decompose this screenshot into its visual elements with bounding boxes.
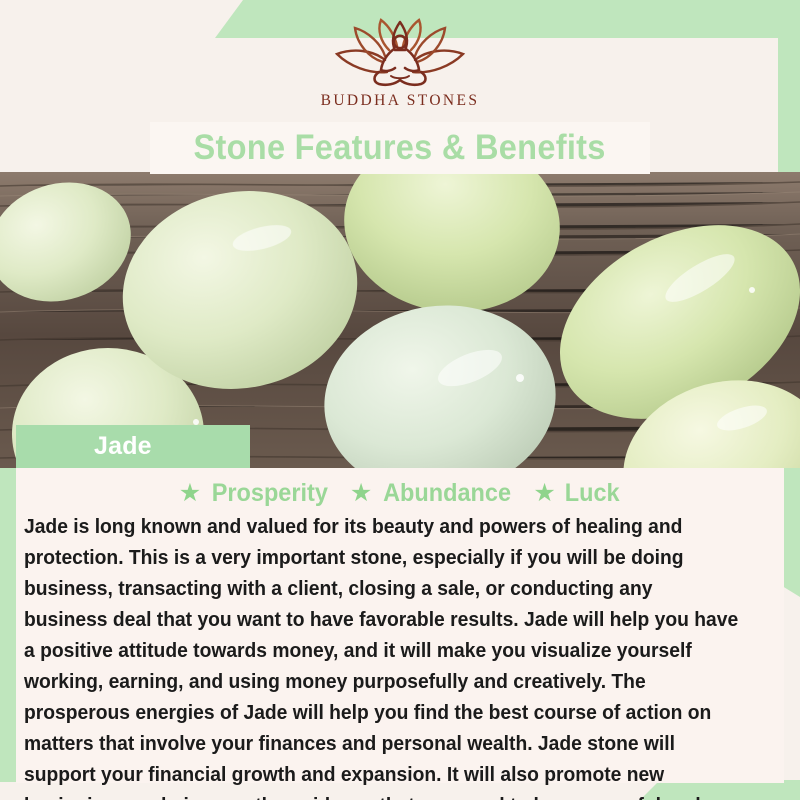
benefit-item: ★ Luck (533, 479, 621, 508)
stone-name: Jade (94, 432, 152, 461)
stone-description: Jade is long known and valued for its be… (24, 512, 738, 800)
stone-info-card: BUDDHA STONES Stone Features & Benefits (0, 0, 800, 800)
lotus-meditation-icon (325, 16, 475, 88)
benefits-list: ★ Prosperity ★ Abundance ★ Luck (24, 476, 776, 510)
stone-photo (0, 172, 800, 468)
benefit-label: Luck (565, 479, 620, 508)
stone-photo-graphic (0, 172, 800, 468)
benefit-label: Prosperity (212, 479, 328, 508)
benefit-item: ★ Prosperity (179, 479, 332, 508)
description-panel: ★ Prosperity ★ Abundance ★ Luck Jade is … (16, 468, 784, 783)
title-band: Stone Features & Benefits (150, 122, 650, 174)
star-icon: ★ (179, 481, 201, 506)
benefit-item: ★ Abundance (350, 479, 516, 508)
brand-name: BUDDHA STONES (321, 92, 480, 110)
decorative-strip-left (0, 462, 16, 782)
page-title: Stone Features & Benefits (194, 128, 606, 168)
brand-header: BUDDHA STONES (0, 0, 800, 122)
benefit-label: Abundance (383, 479, 511, 508)
stone-name-banner: Jade (16, 425, 250, 468)
star-icon: ★ (350, 481, 372, 506)
star-icon: ★ (533, 481, 555, 506)
